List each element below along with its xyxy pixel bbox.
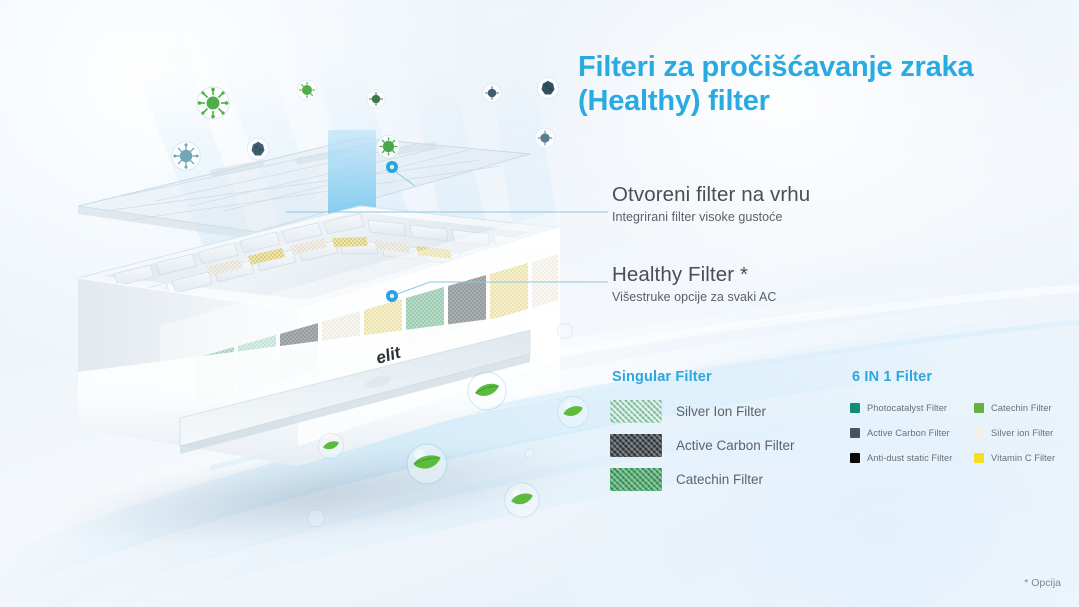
list-item: Silver Ion Filter bbox=[610, 396, 840, 426]
filter-swatch-active-carbon bbox=[610, 434, 662, 457]
filter-label: Anti-dust static Filter bbox=[867, 453, 952, 463]
list-item: Catechin Filter bbox=[974, 395, 1079, 420]
callout-open-top-filter: Otvoreni filter na vrhu Integrirani filt… bbox=[612, 183, 810, 224]
filter-swatch-catechin bbox=[974, 403, 984, 413]
singular-filter-heading: Singular Filter bbox=[612, 369, 712, 385]
callout-title: Healthy Filter * bbox=[612, 263, 777, 287]
filter-label: Photocatalyst Filter bbox=[867, 403, 947, 413]
filter-label: Active Carbon Filter bbox=[867, 428, 950, 438]
list-item: Vitamin C Filter bbox=[974, 445, 1079, 470]
footnote-optional: * Opcija bbox=[1024, 577, 1061, 589]
list-item: Anti-dust static Filter bbox=[850, 445, 968, 470]
page-title-line-2: (Healthy) filter bbox=[578, 84, 1048, 118]
callout-title: Otvoreni filter na vrhu bbox=[612, 183, 810, 207]
page-title: Filteri za pročišćavanje zraka (Healthy)… bbox=[578, 50, 1048, 118]
filter-swatch-photocatalyst bbox=[850, 403, 860, 413]
filter-swatch-catechin bbox=[610, 468, 662, 491]
list-item: Silver ion Filter bbox=[974, 420, 1079, 445]
callout-subtitle: Integrirani filter visoke gustoće bbox=[612, 210, 810, 224]
list-item: Active Carbon Filter bbox=[610, 430, 840, 460]
list-item: Photocatalyst Filter bbox=[850, 395, 968, 420]
singular-filter-list: Silver Ion Filter Active Carbon Filter C… bbox=[610, 396, 840, 498]
filter-label: Silver Ion Filter bbox=[676, 404, 766, 419]
filter-label: Vitamin C Filter bbox=[991, 453, 1055, 463]
callout-subtitle: Višestruke opcije za svaki AC bbox=[612, 290, 777, 304]
filter-label: Silver ion Filter bbox=[991, 428, 1053, 438]
filter-label: Catechin Filter bbox=[991, 403, 1052, 413]
air-purifier-infographic: elit bbox=[0, 0, 1079, 607]
filter-label: Catechin Filter bbox=[676, 472, 763, 487]
six-in-one-filter-heading: 6 IN 1 Filter bbox=[852, 369, 932, 385]
filter-swatch-silver-ion bbox=[974, 428, 984, 438]
page-title-line-1: Filteri za pročišćavanje zraka bbox=[578, 50, 1048, 84]
list-item: Catechin Filter bbox=[610, 464, 840, 494]
filter-swatch-vitamin-c bbox=[974, 453, 984, 463]
filter-swatch-anti-dust-static bbox=[850, 453, 860, 463]
filter-swatch-active-carbon bbox=[850, 428, 860, 438]
list-item: Active Carbon Filter bbox=[850, 420, 968, 445]
filter-swatch-silver-ion bbox=[610, 400, 662, 423]
filter-label: Active Carbon Filter bbox=[676, 438, 795, 453]
callout-healthy-filter: Healthy Filter * Višestruke opcije za sv… bbox=[612, 263, 777, 304]
six-in-one-filter-list: Photocatalyst Filter Catechin Filter Act… bbox=[850, 395, 1079, 470]
